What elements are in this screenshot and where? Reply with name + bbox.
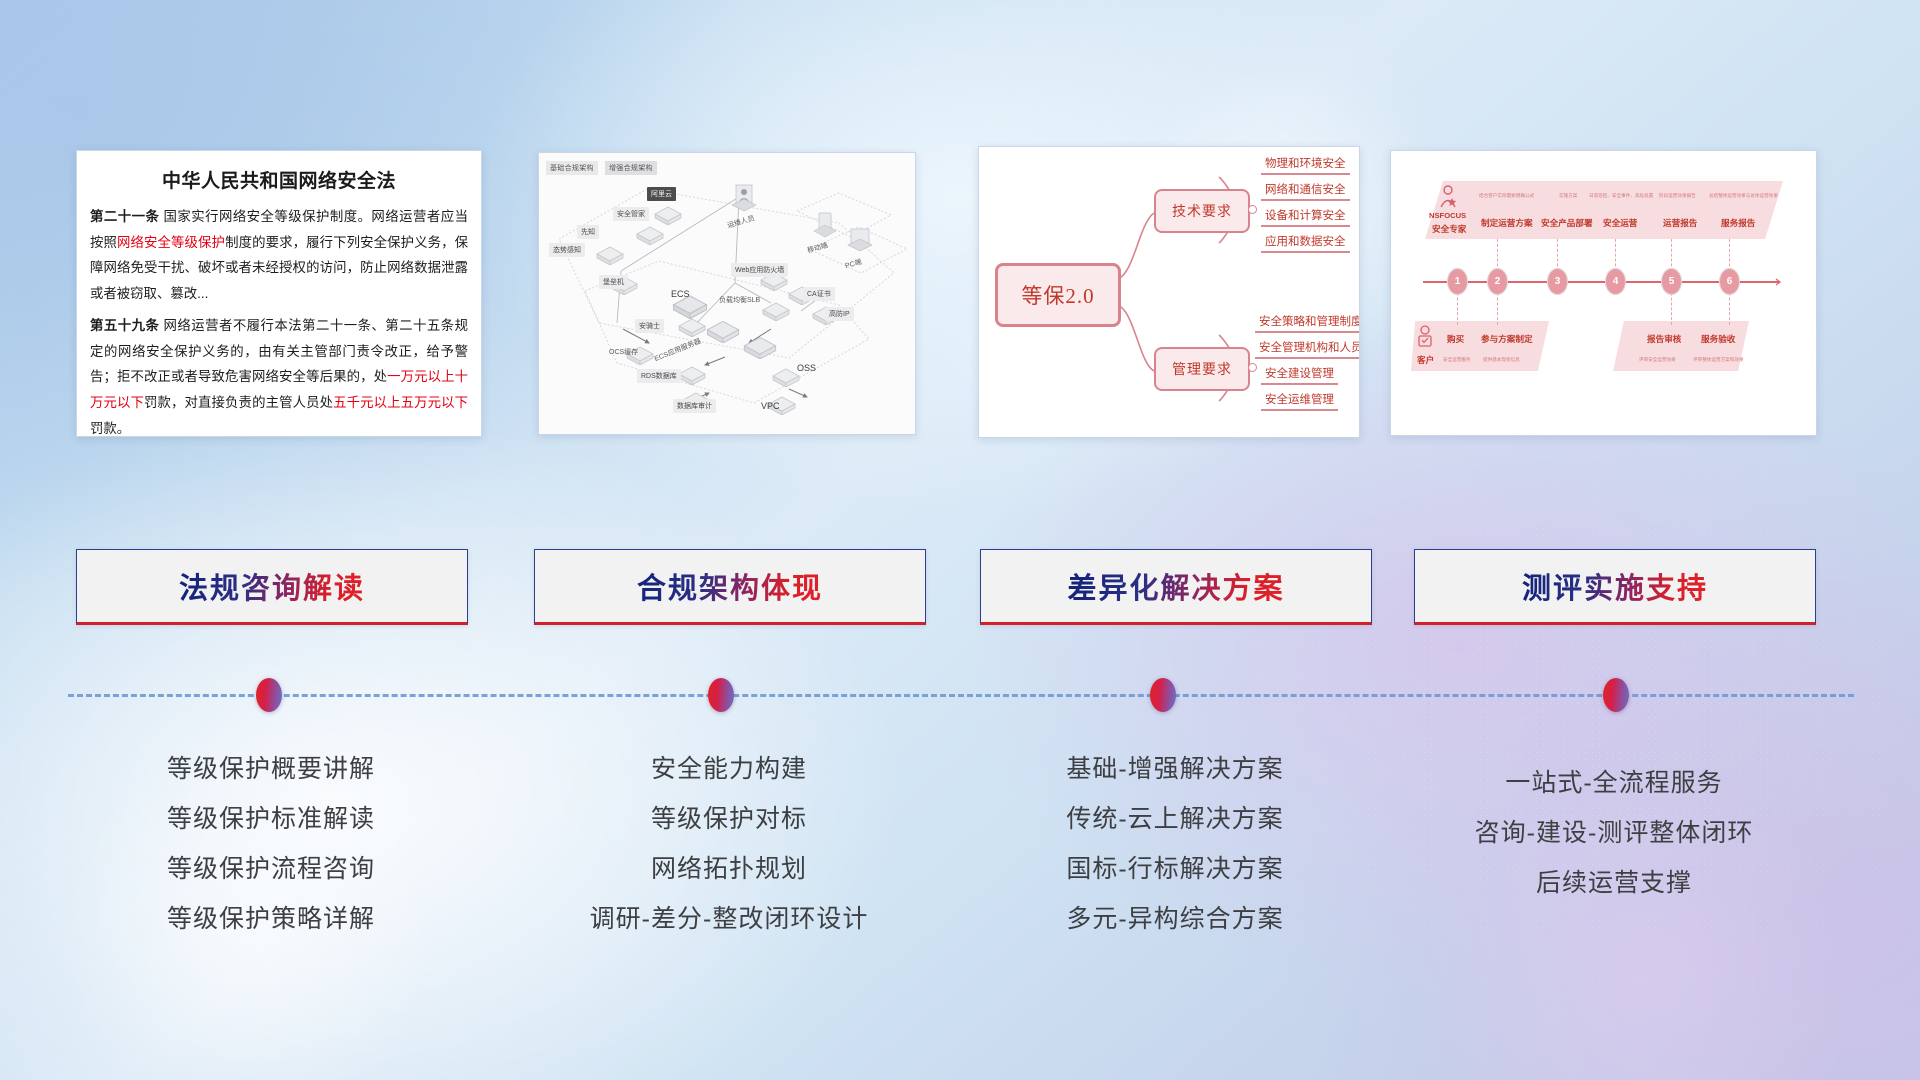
bottom-step-2-sub: 提供基本现状信息 — [1483, 357, 1520, 363]
label-bastion-host: 堡垒机 — [599, 275, 628, 289]
section-title-box-4[interactable]: 测评实施支持 — [1414, 549, 1816, 625]
list-item: 安全能力构建 — [534, 744, 924, 794]
top-step-5-sub: 总结整体运营效果与总体运营效果 — [1709, 193, 1778, 199]
mindmap-collapse-dot-management[interactable] — [1248, 363, 1257, 372]
mindmap-leaf-ops-mgmt: 安全运维管理 — [1261, 391, 1338, 411]
label-oss: OSS — [793, 361, 820, 375]
mindmap-collapse-dot-technical[interactable] — [1248, 205, 1257, 214]
list-item: 调研-差分-整改闭环设计 — [534, 894, 924, 944]
top-step-4-title: 运营报告 — [1663, 217, 1697, 229]
bottom-step-3-title: 报告审核 — [1647, 333, 1681, 345]
mindmap-leaf-org-personnel: 安全管理机构和人员 — [1255, 339, 1360, 359]
list-item: 咨询-建设-测评整体闭环 — [1414, 808, 1814, 858]
timeline-bullet-3[interactable] — [1150, 678, 1176, 712]
node-cube-anqishi — [677, 317, 707, 337]
law-article21-highlight: 网络安全等级保护 — [117, 235, 225, 250]
label-anqishi: 安骑士 — [635, 319, 664, 333]
section-title-4: 测评实施支持 — [1522, 565, 1708, 607]
customer-role: 客户 — [1417, 354, 1434, 366]
card-dengbao-mindmap[interactable]: 等保2.0 技术要求 管理要求 物理和环境安全 网络和通信安全 设备和计算安全 … — [978, 146, 1360, 438]
timeline-arrow-icon — [1771, 275, 1785, 289]
node-cube-situational — [595, 245, 625, 265]
top-step-2-sub: 实施方案 — [1559, 193, 1577, 199]
timeline-bullet-4[interactable] — [1603, 678, 1629, 712]
security-expert-icon — [1437, 185, 1459, 209]
law-title: 中华人民共和国网络安全法 — [77, 166, 481, 193]
top-step-1-title: 制定运营方案 — [1481, 217, 1533, 229]
section-items-2: 安全能力构建 等级保护对标 网络拓扑规划 调研-差分-整改闭环设计 — [534, 744, 924, 944]
timeline-step-6[interactable]: 6 — [1719, 268, 1740, 295]
section-title-box-1[interactable]: 法规咨询解读 — [76, 549, 468, 625]
section-items-1: 等级保护概要讲解 等级保护标准解读 等级保护流程咨询 等级保护策略详解 — [76, 744, 466, 944]
list-item: 等级保护概要讲解 — [76, 744, 466, 794]
node-cube-xianzhi — [635, 225, 665, 245]
list-item: 后续运营支撑 — [1414, 858, 1814, 908]
card-compliance-architecture[interactable]: 基础合规架构 增强合规架构 — [538, 152, 916, 435]
mindmap: 等保2.0 技术要求 管理要求 物理和环境安全 网络和通信安全 设备和计算安全 … — [979, 147, 1359, 437]
timeline-step-5[interactable]: 5 — [1661, 268, 1682, 295]
law-article59-text-c: 罚款。 — [90, 421, 130, 436]
customer-icon — [1415, 325, 1435, 351]
card-nsfocus-timeline[interactable]: NSFOCUS 安全专家 客户 结合客户实际需要明确公式 制定运营方案 实施方案… — [1390, 150, 1817, 436]
mindmap-leaf-device-compute: 设备和计算安全 — [1261, 207, 1350, 227]
label-security-butler: 安全管家 — [613, 207, 649, 221]
label-ocs-cache: OCS缓存 — [605, 345, 642, 359]
timeline-bullet-1[interactable] — [256, 678, 282, 712]
section-items-4: 一站式-全流程服务 咨询-建设-测评整体闭环 后续运营支撑 — [1414, 758, 1814, 908]
timeline-bullet-2[interactable] — [708, 678, 734, 712]
mindmap-leaf-app-data: 应用和数据安全 — [1261, 233, 1350, 253]
list-item: 等级保护策略详解 — [76, 894, 466, 944]
expert-brand: NSFOCUS — [1429, 211, 1466, 220]
timeline-dashed-line — [68, 694, 1854, 697]
list-item: 多元-异构综合方案 — [980, 894, 1370, 944]
section-title-3: 差异化解决方案 — [1067, 565, 1284, 607]
card-cybersecurity-law[interactable]: 中华人民共和国网络安全法 第二十一条 国家实行网络安全等级保护制度。网络运营者应… — [76, 150, 482, 437]
law-article59-highlight-2: 五千元以上五万元以下 — [333, 395, 468, 410]
section-items-3: 基础-增强解决方案 传统-云上解决方案 国标-行标解决方案 多元-异构综合方案 — [980, 744, 1370, 944]
expert-role: 安全专家 — [1432, 223, 1466, 235]
bottom-step-4-title: 服务验收 — [1701, 333, 1735, 345]
list-item: 基础-增强解决方案 — [980, 744, 1370, 794]
bottom-banner-right — [1613, 321, 1749, 371]
section-title-1: 法规咨询解读 — [179, 565, 365, 607]
label-rds: RDS数据库 — [637, 369, 681, 383]
node-cube-app-server-2 — [742, 335, 778, 359]
node-user-ops — [731, 183, 757, 213]
node-cube-rds — [677, 365, 707, 385]
mindmap-leaf-construction-mgmt: 安全建设管理 — [1261, 365, 1338, 385]
law-article21-label: 第二十一条 — [90, 209, 159, 224]
nsfocus-process-diagram: NSFOCUS 安全专家 客户 结合客户实际需要明确公式 制定运营方案 实施方案… — [1391, 151, 1816, 435]
mindmap-leaf-policy-system: 安全策略和管理制度 — [1255, 313, 1360, 333]
law-article59-label: 第五十九条 — [90, 318, 159, 333]
node-cube-app-server-1 — [705, 319, 741, 343]
list-item: 等级保护对标 — [534, 794, 924, 844]
section-title-box-3[interactable]: 差异化解决方案 — [980, 549, 1372, 625]
top-step-3-sub: 日常巡检、安全事件、高危处置 — [1589, 193, 1653, 199]
law-body: 第二十一条 国家实行网络安全等级保护制度。网络运营者应当按照网络安全等级保护制度… — [77, 204, 481, 437]
timeline-step-2[interactable]: 2 — [1487, 268, 1508, 295]
timeline-step-4[interactable]: 4 — [1605, 268, 1626, 295]
bottom-step-2-title: 参与方案制定 — [1481, 333, 1533, 345]
label-anti-ddos-ip: 高防IP — [825, 307, 854, 321]
mindmap-branch-technical: 技术要求 — [1154, 189, 1250, 233]
list-item: 网络拓扑规划 — [534, 844, 924, 894]
bottom-step-1-sub: 安全运营服务 — [1443, 357, 1471, 363]
list-item: 传统-云上解决方案 — [980, 794, 1370, 844]
top-step-1-sub: 结合客户实际需要明确公式 — [1479, 193, 1534, 199]
label-db-audit: 数据库审计 — [673, 399, 716, 413]
label-ca-cert: CA证书 — [803, 287, 835, 301]
section-title-box-2[interactable]: 合规架构体现 — [534, 549, 926, 625]
timeline-step-1[interactable]: 1 — [1447, 268, 1468, 295]
timeline-step-3[interactable]: 3 — [1547, 268, 1568, 295]
label-vpc: VPC — [757, 399, 784, 413]
top-step-4-sub: 阶段运营效果报告 — [1659, 193, 1696, 199]
label-situational-awareness: 态势感知 — [549, 243, 585, 257]
top-step-3-title: 安全运营 — [1603, 217, 1637, 229]
architecture-diagram: 基础合规架构 增强合规架构 — [539, 153, 915, 434]
slide-stage: 中华人民共和国网络安全法 第二十一条 国家实行网络安全等级保护制度。网络运营者应… — [0, 0, 1920, 1080]
node-cube-security-butler — [653, 205, 683, 225]
list-item: 一站式-全流程服务 — [1414, 758, 1814, 808]
mindmap-leaf-network-comm: 网络和通信安全 — [1261, 181, 1350, 201]
bottom-step-3-sub: 评审安全运营效果 — [1639, 357, 1676, 363]
mindmap-branch-management: 管理要求 — [1154, 347, 1250, 391]
bottom-step-1-title: 购买 — [1447, 333, 1464, 345]
label-aliyun: 阿里云 — [647, 187, 676, 201]
node-user-pc — [847, 227, 873, 255]
list-item: 国标-行标解决方案 — [980, 844, 1370, 894]
mindmap-leaf-physical-env: 物理和环境安全 — [1261, 155, 1350, 175]
law-article59-text-b: 罚款，对直接负责的主管人员处 — [144, 395, 333, 410]
label-ecs: ECS — [667, 287, 694, 301]
label-xianzhi: 先知 — [577, 225, 599, 239]
section-title-2: 合规架构体现 — [637, 565, 823, 607]
label-slb: 负载均衡SLB — [715, 293, 764, 307]
label-waf: Web应用防火墙 — [731, 263, 788, 277]
list-item: 等级保护标准解读 — [76, 794, 466, 844]
list-item: 等级保护流程咨询 — [76, 844, 466, 894]
node-user-mobile — [813, 211, 837, 239]
top-step-5-title: 服务报告 — [1721, 217, 1755, 229]
top-banner — [1425, 181, 1783, 239]
top-step-2-title: 安全产品部署 — [1541, 217, 1593, 229]
bottom-step-4-sub: 评审整体运营方案和效果 — [1693, 357, 1744, 363]
mindmap-root: 等保2.0 — [995, 263, 1121, 327]
